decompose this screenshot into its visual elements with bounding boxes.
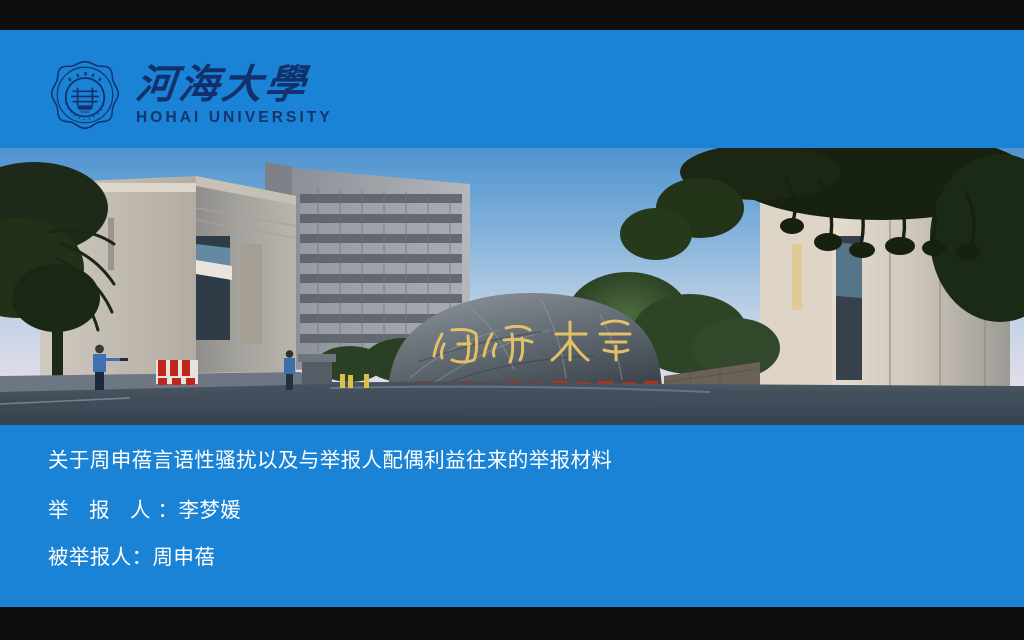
- university-logo-lockup: 河海大學 HOHAI UNIVERSITY: [48, 58, 333, 132]
- report-title: 关于周申蓓言语性骚扰以及与举报人配偶利益往来的举报材料: [48, 448, 978, 473]
- reported-label: 被举报人: [48, 545, 132, 569]
- slide-root: 河海大學 HOHAI UNIVERSITY: [0, 0, 1024, 640]
- letterbox-top: [0, 0, 1024, 30]
- hohai-university-main-gate-photo: [0, 148, 1024, 425]
- hohai-university-seal-icon: [48, 58, 122, 132]
- reporter-line: 举 报 人：李梦媛: [48, 498, 978, 523]
- report-caption-block: 关于周申蓓言语性骚扰以及与举报人配偶利益往来的举报材料 举 报 人：李梦媛 被举…: [48, 448, 978, 570]
- reporter-separator: ：: [158, 498, 179, 522]
- slide-canvas: 河海大學 HOHAI UNIVERSITY: [0, 30, 1024, 607]
- reported-separator: ：: [132, 545, 153, 569]
- letterbox-bottom: [0, 607, 1024, 640]
- wordmark-block: 河海大學 HOHAI UNIVERSITY: [136, 62, 333, 128]
- wordmark-chinese: 河海大學: [134, 64, 335, 106]
- reported-name: 周申蓓: [153, 545, 216, 569]
- reporter-label: 举 报 人: [48, 498, 158, 522]
- red-white-barrier: [156, 360, 198, 385]
- reported-line: 被举报人：周申蓓: [48, 545, 978, 570]
- wordmark-english: HOHAI UNIVERSITY: [136, 109, 333, 128]
- reporter-name: 李梦媛: [178, 498, 241, 522]
